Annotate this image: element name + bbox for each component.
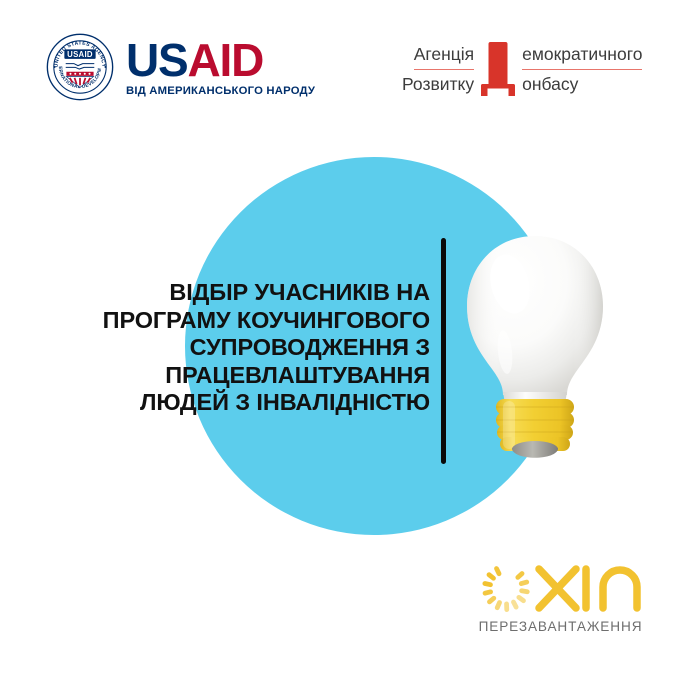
header: UNITED STATES AGENCY INTERNATIONAL DEVEL… bbox=[0, 0, 690, 140]
add-logo-right-column: емократичного онбасу bbox=[522, 40, 642, 100]
usaid-seal-icon: UNITED STATES AGENCY INTERNATIONAL DEVEL… bbox=[46, 33, 114, 101]
headline-line-1: ВІДБІР УЧАСНИКІВ НА bbox=[40, 279, 430, 307]
letter-d-arch-icon bbox=[603, 570, 637, 608]
add-logo-line-1: Агенція bbox=[414, 40, 474, 70]
usaid-wordmark-group: USAID ВІД АМЕРИКАНСЬКОГО НАРОДУ bbox=[126, 37, 315, 98]
add-logo: Агенція Розвитку емократичного онбасу bbox=[402, 40, 642, 100]
add-logo-line-2: Розвитку bbox=[402, 70, 474, 100]
letter-x-icon bbox=[539, 569, 576, 608]
skhid-subtitle: ПЕРЕЗАВАНТАЖЕННЯ bbox=[473, 619, 648, 634]
sun-rays-c-icon bbox=[482, 565, 530, 612]
svg-text:USAID: USAID bbox=[67, 50, 93, 59]
skhid-wordmark-icon bbox=[473, 561, 648, 617]
headline-line-2: ПРОГРАМУ КОУЧИНГОВОГО bbox=[40, 307, 430, 335]
lightbulb-icon bbox=[455, 232, 615, 462]
headline-line-4: ПРАЦЕВЛАШТУВАННЯ bbox=[40, 362, 430, 390]
usaid-wordmark-us: US bbox=[126, 34, 188, 86]
add-logo-left-column: Агенція Розвитку bbox=[402, 40, 474, 100]
add-logo-line-2-right: онбасу bbox=[522, 70, 578, 100]
usaid-logo: UNITED STATES AGENCY INTERNATIONAL DEVEL… bbox=[46, 33, 315, 101]
usaid-wordmark-aid: AID bbox=[188, 34, 264, 86]
vertical-divider-bar bbox=[441, 238, 446, 464]
poster-canvas: UNITED STATES AGENCY INTERNATIONAL DEVEL… bbox=[0, 0, 690, 690]
usaid-wordmark: USAID bbox=[126, 37, 315, 83]
headline-line-5: ЛЮДЕЙ З ІНВАЛІДНІСТЮ bbox=[40, 389, 430, 417]
add-logo-monogram-d-icon bbox=[479, 40, 517, 98]
skhid-logo: ПЕРЕЗАВАНТАЖЕННЯ bbox=[473, 561, 648, 643]
page-title: ВІДБІР УЧАСНИКІВ НА ПРОГРАМУ КОУЧИНГОВОГ… bbox=[40, 279, 430, 417]
headline-line-3: СУПРОВОДЖЕННЯ З bbox=[40, 334, 430, 362]
usaid-tagline: ВІД АМЕРИКАНСЬКОГО НАРОДУ bbox=[126, 85, 315, 98]
add-logo-line-1-right: емократичного bbox=[522, 40, 642, 70]
